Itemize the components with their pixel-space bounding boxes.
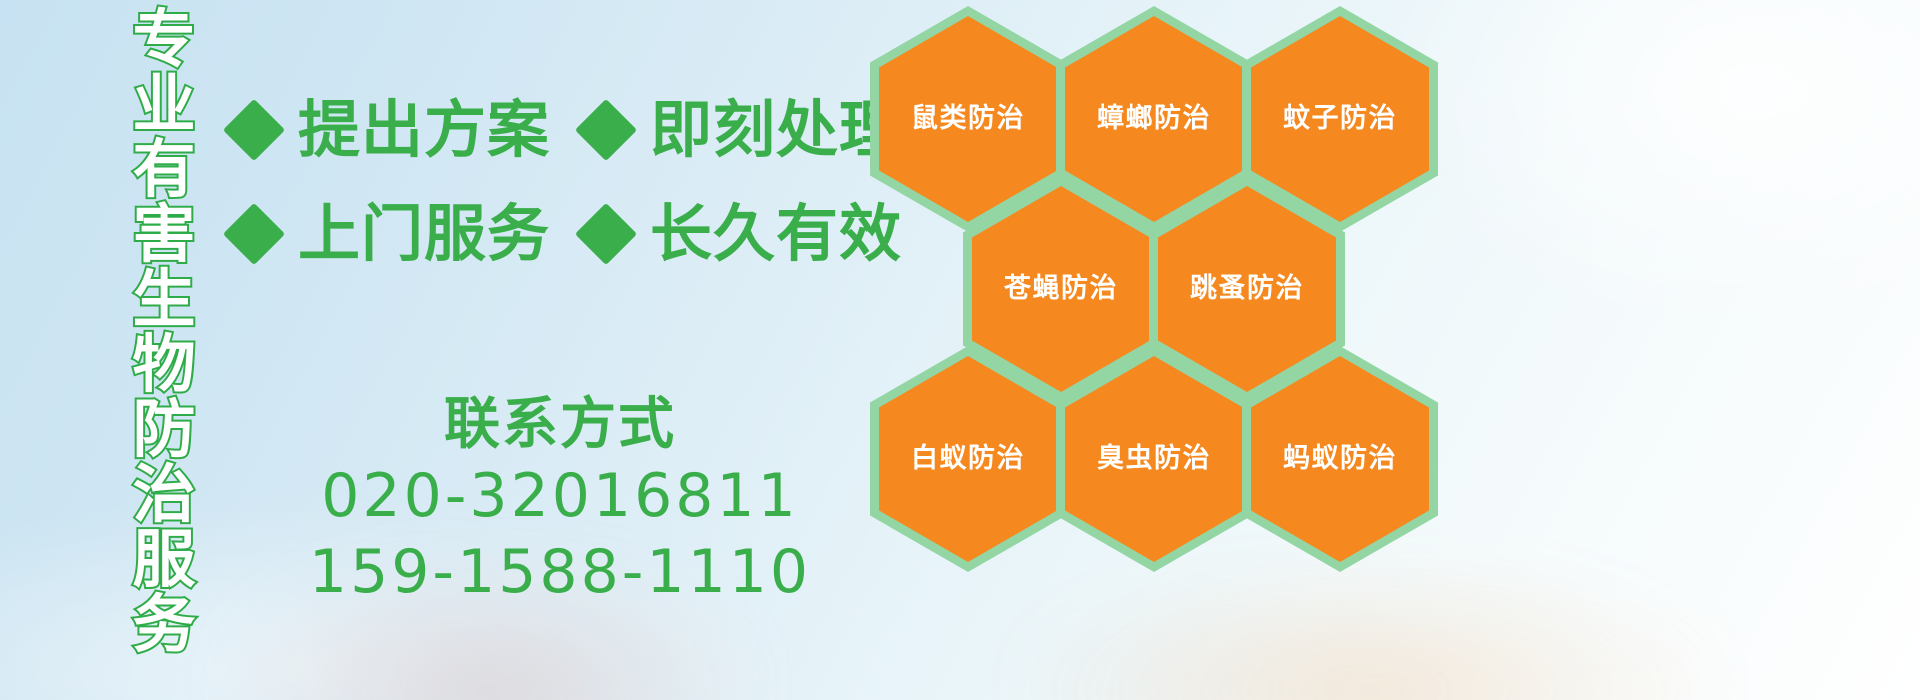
feature-label: 上门服务 bbox=[298, 203, 550, 265]
feature-item-door-to-door: 上门服务 bbox=[232, 203, 550, 265]
vertical-headline-char: 防 bbox=[133, 398, 196, 461]
feature-item-propose-plan: 提出方案 bbox=[232, 99, 550, 161]
service-hexagon-label: 臭虫防治 bbox=[1097, 444, 1211, 474]
service-hexagon-label: 蟑螂防治 bbox=[1097, 104, 1211, 134]
contact-block: 联系方式 020-32016811 159-1588-1110 bbox=[300, 392, 820, 610]
service-hexagon-label: 白蚁防治 bbox=[911, 444, 1025, 474]
vertical-headline-char: 业 bbox=[133, 73, 196, 136]
vertical-headline-char: 生 bbox=[133, 268, 196, 331]
vertical-headline-char: 物 bbox=[133, 333, 196, 396]
service-hexagon-label: 苍蝇防治 bbox=[1004, 274, 1118, 304]
diamond-bullet-icon bbox=[223, 99, 285, 161]
feature-row: 提出方案 即刻处理 bbox=[232, 78, 872, 182]
vertical-headline-char: 有 bbox=[133, 138, 196, 201]
diamond-bullet-icon bbox=[223, 203, 285, 265]
service-hexagon-label: 鼠类防治 bbox=[911, 104, 1025, 134]
vertical-headline-char: 务 bbox=[133, 593, 196, 656]
vertical-headline-char: 服 bbox=[133, 528, 196, 591]
service-hexagon-label: 跳蚤防治 bbox=[1190, 274, 1304, 304]
vertical-headline-char: 治 bbox=[133, 463, 196, 526]
diamond-bullet-icon bbox=[575, 203, 637, 265]
contact-title: 联系方式 bbox=[300, 392, 820, 458]
feature-item-long-lasting: 长久有效 bbox=[584, 203, 902, 265]
feature-list: 提出方案 即刻处理 上门服务 长久有效 bbox=[232, 78, 872, 286]
contact-phone-landline[interactable]: 020-32016811 bbox=[300, 458, 820, 534]
feature-row: 上门服务 长久有效 bbox=[232, 182, 872, 286]
feature-item-immediate-handling: 即刻处理 bbox=[584, 99, 902, 161]
service-hexagon-label: 蚂蚁防治 bbox=[1283, 444, 1397, 474]
pest-control-banner: 专 业 有 害 生 物 防 治 服 务 提出方案 即刻处理 上门服务 bbox=[0, 0, 1920, 700]
feature-label: 提出方案 bbox=[298, 99, 550, 161]
vertical-headline: 专 业 有 害 生 物 防 治 服 务 bbox=[108, 8, 220, 580]
vertical-headline-char: 害 bbox=[133, 203, 196, 266]
vertical-headline-char: 专 bbox=[133, 8, 196, 71]
service-hexagon-grid: 鼠类防治 蟑螂防治 蚊子防治 苍蝇防治 跳蚤防治 白蚁防治 臭虫防治 bbox=[860, 0, 1560, 700]
service-hexagon-label: 蚊子防治 bbox=[1283, 104, 1397, 134]
diamond-bullet-icon bbox=[575, 99, 637, 161]
contact-phone-mobile[interactable]: 159-1588-1110 bbox=[300, 534, 820, 610]
